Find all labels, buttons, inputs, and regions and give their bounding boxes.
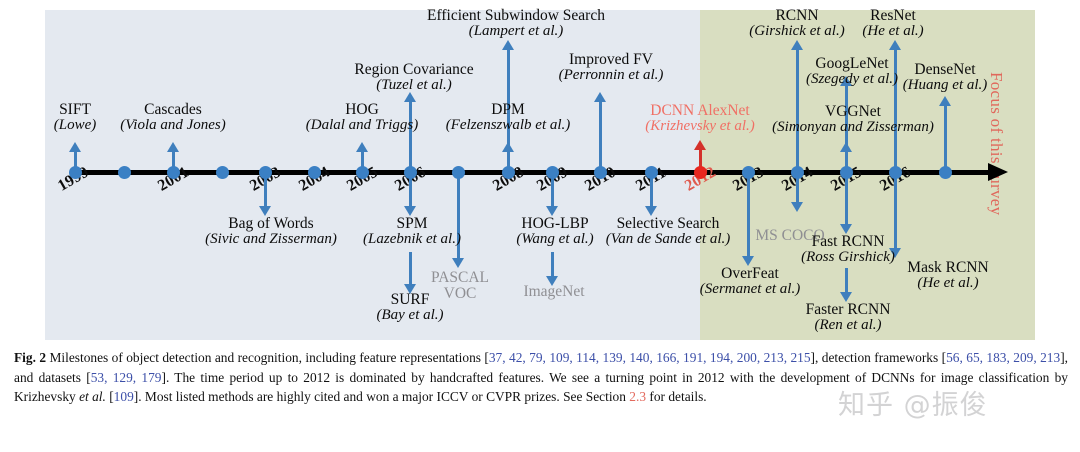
milestone-hog-name: HOG xyxy=(306,102,419,118)
milestone-dpm-authors: (Felzenszwalb et al.) xyxy=(446,118,571,134)
caption-refs-datasets[interactable]: 53, 129, 179 xyxy=(91,370,162,385)
timeline-node-2009[interactable] xyxy=(546,166,559,179)
milestone-sift-authors: (Lowe) xyxy=(54,118,97,134)
milestone-hog-lbp-authors: (Wang et al.) xyxy=(516,232,593,248)
milestone-rcnn-name: RCNN xyxy=(749,8,844,24)
dataset-imagenet: ImageNet xyxy=(523,284,584,300)
milestone-hog: HOG (Dalal and Triggs) xyxy=(306,102,419,134)
milestone-efficient-subwindow-search: Efficient Subwindow Search (Lampert et a… xyxy=(427,8,605,40)
milestone-densenet: DenseNet (Huang et al.) xyxy=(903,62,988,94)
timeline-node-2000[interactable] xyxy=(118,166,131,179)
timeline-node-2010[interactable] xyxy=(594,166,607,179)
milestone-cascades: Cascades (Viola and Jones) xyxy=(120,102,226,134)
caption-section-ref[interactable]: 2.3 xyxy=(629,389,646,404)
arrow-stem-overfeat xyxy=(747,172,750,258)
milestone-improved-fv: Improved FV (Perronnin et al.) xyxy=(559,52,664,84)
arrow-head-vggnet-icon xyxy=(840,142,852,152)
arrow-stem-fast-rcnn xyxy=(845,172,848,226)
timeline-node-2014[interactable] xyxy=(791,166,804,179)
timeline-node-2012[interactable] xyxy=(694,166,707,179)
watermark: 知乎 @振俊 xyxy=(838,383,988,422)
milestone-googlenet: GoogLeNet (Szegedy et al.) xyxy=(806,56,898,88)
milestone-alexnet: DCNN AlexNet (Krizhevsky et al.) xyxy=(645,103,755,135)
arrow-head-pascal-voc-icon xyxy=(452,258,464,268)
arrow-head-rcnn-icon xyxy=(791,40,803,50)
milestone-selective-search-authors: (Van de Sande et al.) xyxy=(606,232,731,248)
milestone-faster-rcnn-name: Faster RCNN xyxy=(806,302,891,318)
milestone-densenet-authors: (Huang et al.) xyxy=(903,78,988,94)
caption-text-5: [ xyxy=(106,389,114,404)
milestone-sift: SIFT (Lowe) xyxy=(54,102,97,134)
dataset-pascal-voc-line1: PASCAL xyxy=(431,270,489,286)
milestone-ess-name: Efficient Subwindow Search xyxy=(427,8,605,24)
arrow-head-hog-icon xyxy=(356,142,368,152)
arrow-stem-improved-fv xyxy=(599,100,602,170)
timeline-node-2013[interactable] xyxy=(742,166,755,179)
milestone-googlenet-authors: (Szegedy et al.) xyxy=(806,72,898,88)
milestone-improved-fv-authors: (Perronnin et al.) xyxy=(559,68,664,84)
milestone-region-covariance-name: Region Covariance xyxy=(354,62,473,78)
milestone-cascades-authors: (Viola and Jones) xyxy=(120,118,226,134)
milestone-vggnet: VGGNet (Simonyan and Zisserman) xyxy=(772,104,934,136)
milestone-dpm: DPM (Felzenszwalb et al.) xyxy=(446,102,571,134)
milestone-overfeat-name: OverFeat xyxy=(700,266,800,282)
milestone-bow-name: Bag of Words xyxy=(205,216,337,232)
milestone-overfeat: OverFeat (Sermanet et al.) xyxy=(700,266,800,298)
milestone-faster-rcnn-authors: (Ren et al.) xyxy=(806,318,891,334)
caption-text-6: ]. Most listed methods are highly cited … xyxy=(134,389,630,404)
milestone-spm: SPM (Lazebnik et al.) xyxy=(363,216,461,248)
arrow-stem-surf xyxy=(409,252,412,286)
arrow-head-dpm-icon xyxy=(502,142,514,152)
milestone-mask-rcnn: Mask RCNN (He et al.) xyxy=(907,260,988,292)
arrow-stem-faster-rcnn xyxy=(845,268,848,294)
caption-text-2: ], detection frameworks [ xyxy=(811,350,947,365)
milestone-vggnet-name: VGGNet xyxy=(772,104,934,120)
caption-etal: et al. xyxy=(79,389,106,404)
milestone-densenet-name: DenseNet xyxy=(903,62,988,78)
timeline-node-2008[interactable] xyxy=(502,166,515,179)
timeline-node-2007[interactable] xyxy=(452,166,465,179)
dataset-pascal-voc-line2: VOC xyxy=(431,286,489,302)
arrow-head-improved-fv-icon xyxy=(594,92,606,102)
milestone-rcnn-authors: (Girshick et al.) xyxy=(749,24,844,40)
arrow-head-alexnet-icon xyxy=(694,140,706,150)
milestone-faster-rcnn: Faster RCNN (Ren et al.) xyxy=(806,302,891,334)
caption-text-7: for details. xyxy=(646,389,707,404)
timeline-node-2003[interactable] xyxy=(259,166,272,179)
timeline-node-2001[interactable] xyxy=(167,166,180,179)
timeline-node-2016[interactable] xyxy=(889,166,902,179)
timeline-node-end[interactable] xyxy=(939,166,952,179)
caption-text-1: Milestones of object detection and recog… xyxy=(46,350,489,365)
caption-refs-frameworks[interactable]: 56, 65, 183, 209, 213 xyxy=(946,350,1060,365)
milestone-vggnet-authors: (Simonyan and Zisserman) xyxy=(772,120,934,136)
milestone-surf-authors: (Bay et al.) xyxy=(376,308,443,324)
arrow-head-cascades-icon xyxy=(167,142,179,152)
milestone-sift-name: SIFT xyxy=(54,102,97,118)
milestone-fast-rcnn-name: Fast RCNN xyxy=(801,234,895,250)
milestone-resnet-authors: (He et al.) xyxy=(862,24,923,40)
timeline-node-2005[interactable] xyxy=(356,166,369,179)
milestone-spm-authors: (Lazebnik et al.) xyxy=(363,232,461,248)
milestone-ess-authors: (Lampert et al.) xyxy=(427,24,605,40)
milestone-googlenet-name: GoogLeNet xyxy=(806,56,898,72)
milestone-alexnet-name: DCNN AlexNet xyxy=(645,103,755,119)
milestone-resnet: ResNet (He et al.) xyxy=(862,8,923,40)
milestone-cascades-name: Cascades xyxy=(120,102,226,118)
arrow-stem-imagenet xyxy=(551,252,554,278)
milestone-hog-lbp-name: HOG-LBP xyxy=(516,216,593,232)
milestone-improved-fv-name: Improved FV xyxy=(559,52,664,68)
milestone-bow-authors: (Sivic and Zisserman) xyxy=(205,232,337,248)
timeline-node-2004[interactable] xyxy=(308,166,321,179)
arrow-head-resnet-icon xyxy=(889,40,901,50)
timeline-node-1999[interactable] xyxy=(69,166,82,179)
milestone-spm-name: SPM xyxy=(363,216,461,232)
caption-fig-label: Fig. 2 xyxy=(14,350,46,365)
milestone-hog-lbp: HOG-LBP (Wang et al.) xyxy=(516,216,593,248)
milestone-resnet-name: ResNet xyxy=(862,8,923,24)
dataset-imagenet-name: ImageNet xyxy=(523,284,584,300)
timeline-node-2015[interactable] xyxy=(840,166,853,179)
milestone-fast-rcnn: Fast RCNN (Ross Girshick) xyxy=(801,234,895,266)
milestone-mask-rcnn-authors: (He et al.) xyxy=(907,276,988,292)
milestone-hog-authors: (Dalal and Triggs) xyxy=(306,118,419,134)
milestone-mask-rcnn-name: Mask RCNN xyxy=(907,260,988,276)
milestone-region-covariance: Region Covariance (Tuzel et al.) xyxy=(354,62,473,94)
timeline-arrow-head-icon xyxy=(988,163,1008,181)
milestone-rcnn: RCNN (Girshick et al.) xyxy=(749,8,844,40)
caption-ref-alexnet[interactable]: 109 xyxy=(114,389,134,404)
focus-of-survey-label: Focus of this survey xyxy=(986,72,1006,215)
arrow-head-ms-coco-icon xyxy=(791,202,803,212)
milestone-overfeat-authors: (Sermanet et al.) xyxy=(700,282,800,298)
milestone-alexnet-authors: (Krizhevsky et al.) xyxy=(645,119,755,135)
caption-refs-features[interactable]: 37, 42, 79, 109, 114, 139, 140, 166, 191… xyxy=(489,350,811,365)
timeline-node-2011[interactable] xyxy=(645,166,658,179)
milestone-selective-search-name: Selective Search xyxy=(606,216,731,232)
dataset-pascal-voc: PASCAL VOC xyxy=(431,270,489,302)
timeline-node-2006[interactable] xyxy=(404,166,417,179)
arrow-head-densenet-icon xyxy=(939,96,951,106)
milestone-region-covariance-authors: (Tuzel et al.) xyxy=(354,78,473,94)
milestone-fast-rcnn-authors: (Ross Girshick) xyxy=(801,250,895,266)
arrow-stem-densenet xyxy=(944,104,947,170)
timeline-node-2002[interactable] xyxy=(216,166,229,179)
milestone-dpm-name: DPM xyxy=(446,102,571,118)
milestone-selective-search: Selective Search (Van de Sande et al.) xyxy=(606,216,731,248)
arrow-head-efficient-subwindow-search-icon xyxy=(502,40,514,50)
arrow-head-sift-icon xyxy=(69,142,81,152)
milestone-bag-of-words: Bag of Words (Sivic and Zisserman) xyxy=(205,216,337,248)
